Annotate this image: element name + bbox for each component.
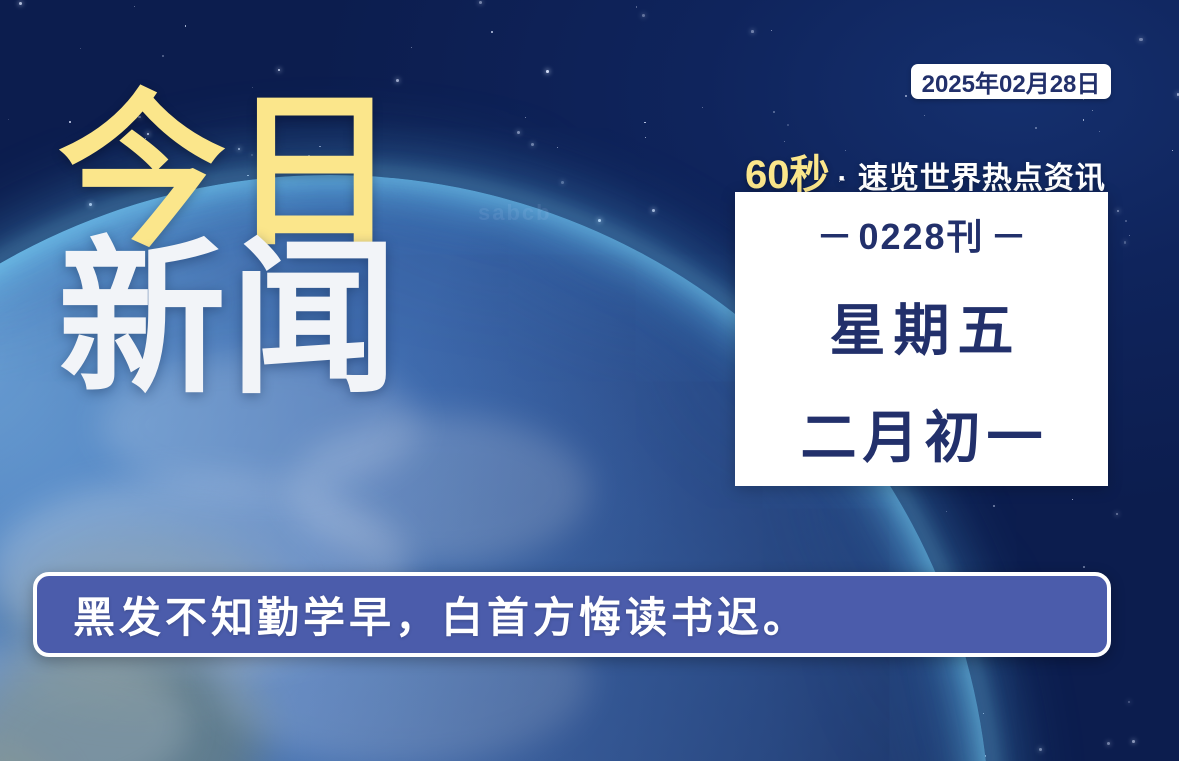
dash-left: －: [810, 216, 858, 257]
star-dot: [1128, 701, 1130, 703]
star-dot: [411, 47, 412, 48]
star-dot: [636, 6, 638, 8]
star-dot: [1035, 127, 1037, 129]
star-dot: [1039, 748, 1042, 751]
dash-right: －: [985, 216, 1033, 257]
star-dot: [983, 713, 984, 714]
star-dot: [185, 25, 187, 27]
star-dot: [787, 124, 789, 126]
star-dot: [561, 181, 564, 184]
star-dot: [19, 2, 22, 5]
quote-text: 黑发不知勤学早，白首方悔读书迟。: [73, 584, 809, 645]
headline-line-2: 新闻: [58, 239, 402, 400]
star-dot: [278, 69, 280, 71]
quote-banner: 黑发不知勤学早，白首方悔读书迟。: [33, 572, 1111, 657]
star-dot: [525, 117, 526, 118]
star-dot: [491, 31, 493, 33]
star-dot: [162, 55, 164, 57]
star-dot: [924, 115, 925, 116]
star-dot: [1116, 513, 1118, 515]
star-dot: [1125, 220, 1127, 222]
star-dot: [652, 209, 655, 212]
star-dot: [644, 122, 646, 124]
star-dot: [751, 30, 754, 33]
star-dot: [1083, 119, 1085, 121]
star-dot: [1083, 99, 1084, 100]
star-dot: [773, 111, 775, 113]
lunar-date-label: 二月初一: [795, 393, 1049, 474]
star-dot: [1124, 241, 1126, 243]
star-dot: [1132, 740, 1135, 743]
star-dot: [1139, 38, 1142, 41]
poster-canvas: sabcb 今日 新闻 2025年02月28日 60秒 · 速览世界热点资讯 －…: [0, 0, 1179, 761]
star-dot: [557, 147, 558, 148]
star-dot: [1072, 499, 1073, 500]
star-dot: [517, 131, 520, 134]
star-dot: [905, 95, 907, 97]
star-dot: [1099, 131, 1100, 132]
issue-number-row: －0228刊－: [810, 208, 1032, 260]
star-dot: [1083, 566, 1085, 568]
star-dot: [946, 511, 947, 512]
date-badge: 2025年02月28日: [911, 64, 1111, 99]
issue-number: 0228刊: [858, 216, 984, 257]
star-dot: [80, 48, 82, 50]
star-dot: [8, 119, 9, 120]
star-dot: [645, 137, 647, 139]
star-dot: [993, 505, 995, 507]
star-dot: [1107, 742, 1110, 745]
star-dot: [1129, 235, 1130, 236]
star-dot: [598, 219, 601, 222]
page-title: 今日 新闻: [58, 92, 402, 401]
weekday-label: 星期五: [822, 286, 1022, 367]
star-dot: [702, 107, 703, 108]
star-dot: [1117, 210, 1119, 212]
star-dot: [771, 30, 772, 31]
star-dot: [531, 143, 534, 146]
tagline-description: · 速览世界热点资讯: [838, 153, 1106, 197]
star-dot: [546, 70, 549, 73]
star-dot: [1172, 150, 1173, 151]
star-dot: [134, 6, 135, 7]
star-dot: [479, 1, 482, 4]
star-dot: [642, 14, 645, 17]
star-dot: [1092, 110, 1093, 111]
info-card: －0228刊－ 星期五 二月初一: [735, 192, 1108, 486]
